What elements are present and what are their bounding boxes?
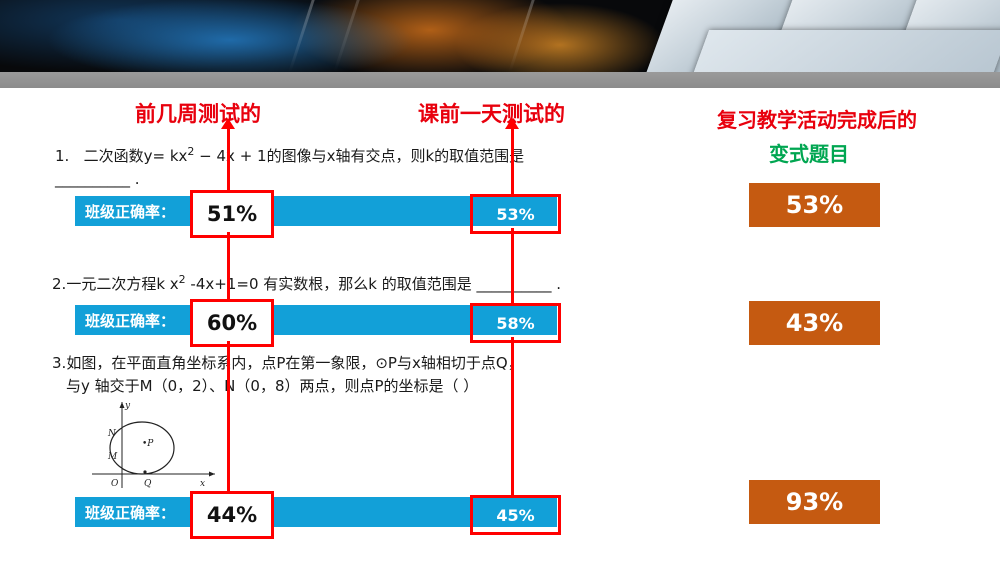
- highlight-previous-weeks-value-2: 60%: [190, 299, 274, 347]
- column-heading-variant-problems: 变式题目: [769, 138, 849, 167]
- figure-label-P: •P: [142, 439, 154, 449]
- figure-label-M: M: [107, 452, 118, 462]
- result-box-2: 43%: [749, 301, 880, 345]
- figure-label-O: O: [111, 479, 119, 489]
- rate-bar-label-1: 班级正确率：: [85, 201, 175, 222]
- figure-label-N: N: [107, 429, 117, 439]
- column-heading-day-before: 课前一天测试的: [418, 98, 565, 128]
- question-2-exponent: 2: [179, 273, 186, 286]
- question-2-text-b: -4x+1=0 有实数根，那么k 的取值范围是 __________ .: [186, 275, 561, 293]
- figure-label-Q: Q: [144, 479, 152, 489]
- decorative-top-banner: [0, 0, 1000, 72]
- highlight-day-before-value-3: 45%: [470, 495, 561, 535]
- rate-bar-label-3: 班级正确率：: [85, 502, 175, 523]
- highlight-day-before-value-1: 53%: [470, 194, 561, 234]
- question-3-text-a: 如图，在平面直角坐标系内，点P在第一象限，⊙P与x轴相切于点Q，: [66, 354, 522, 372]
- column-heading-previous-weeks: 前几周测试的: [135, 98, 261, 128]
- arrowhead-mid-top: [505, 118, 519, 129]
- question-3-text-b: 与y 轴交于M（0，2）、N（0，8）两点，则点P的坐标是（ ）: [66, 375, 478, 398]
- geometry-figure: x y N M •P O Q: [80, 396, 230, 492]
- rate-bar-label-2: 班级正确率：: [85, 310, 175, 331]
- question-3-number: 3.: [52, 354, 66, 372]
- result-box-3: 93%: [749, 480, 880, 524]
- question-3: 3.如图，在平面直角坐标系内，点P在第一象限，⊙P与x轴相切于点Q， 与y 轴交…: [52, 352, 732, 398]
- question-1-text-a: 二次函数y= kx: [84, 147, 188, 165]
- connector-line-left-mid: [227, 232, 230, 299]
- question-1-text-b: − 4x + 1的图像与x轴有交点，则k的取值范围是: [194, 147, 524, 165]
- connector-line-mid-mid: [511, 228, 514, 303]
- connector-line-mid-top: [511, 124, 514, 194]
- connector-line-left-top: [227, 124, 230, 190]
- banner-gray-divider: [0, 72, 1000, 88]
- question-1: 1. 二次函数y= kx2 − 4x + 1的图像与x轴有交点，则k的取值范围是…: [55, 140, 695, 191]
- column-heading-after-review: 复习教学活动完成后的: [717, 104, 917, 133]
- highlight-previous-weeks-value-3: 44%: [190, 491, 274, 539]
- question-2-text-a: 一元二次方程k x: [66, 275, 178, 293]
- question-2: 2.一元二次方程k x2 -4x+1=0 有实数根，那么k 的取值范围是 ___…: [52, 268, 732, 296]
- figure-label-x: x: [200, 479, 205, 489]
- connector-line-left-bottom: [227, 341, 230, 491]
- question-1-number: 1.: [55, 147, 69, 165]
- banner-glow: [0, 0, 700, 72]
- highlight-day-before-value-2: 58%: [470, 303, 561, 343]
- banner-sheet: [691, 30, 1000, 72]
- connector-line-mid-bottom: [511, 337, 514, 495]
- figure-label-y: y: [124, 401, 131, 411]
- highlight-previous-weeks-value-1: 51%: [190, 190, 274, 238]
- question-1-blank: __________ .: [55, 170, 140, 188]
- result-box-1: 53%: [749, 183, 880, 227]
- question-2-number: 2.: [52, 275, 66, 293]
- arrowhead-left-top: [221, 118, 235, 129]
